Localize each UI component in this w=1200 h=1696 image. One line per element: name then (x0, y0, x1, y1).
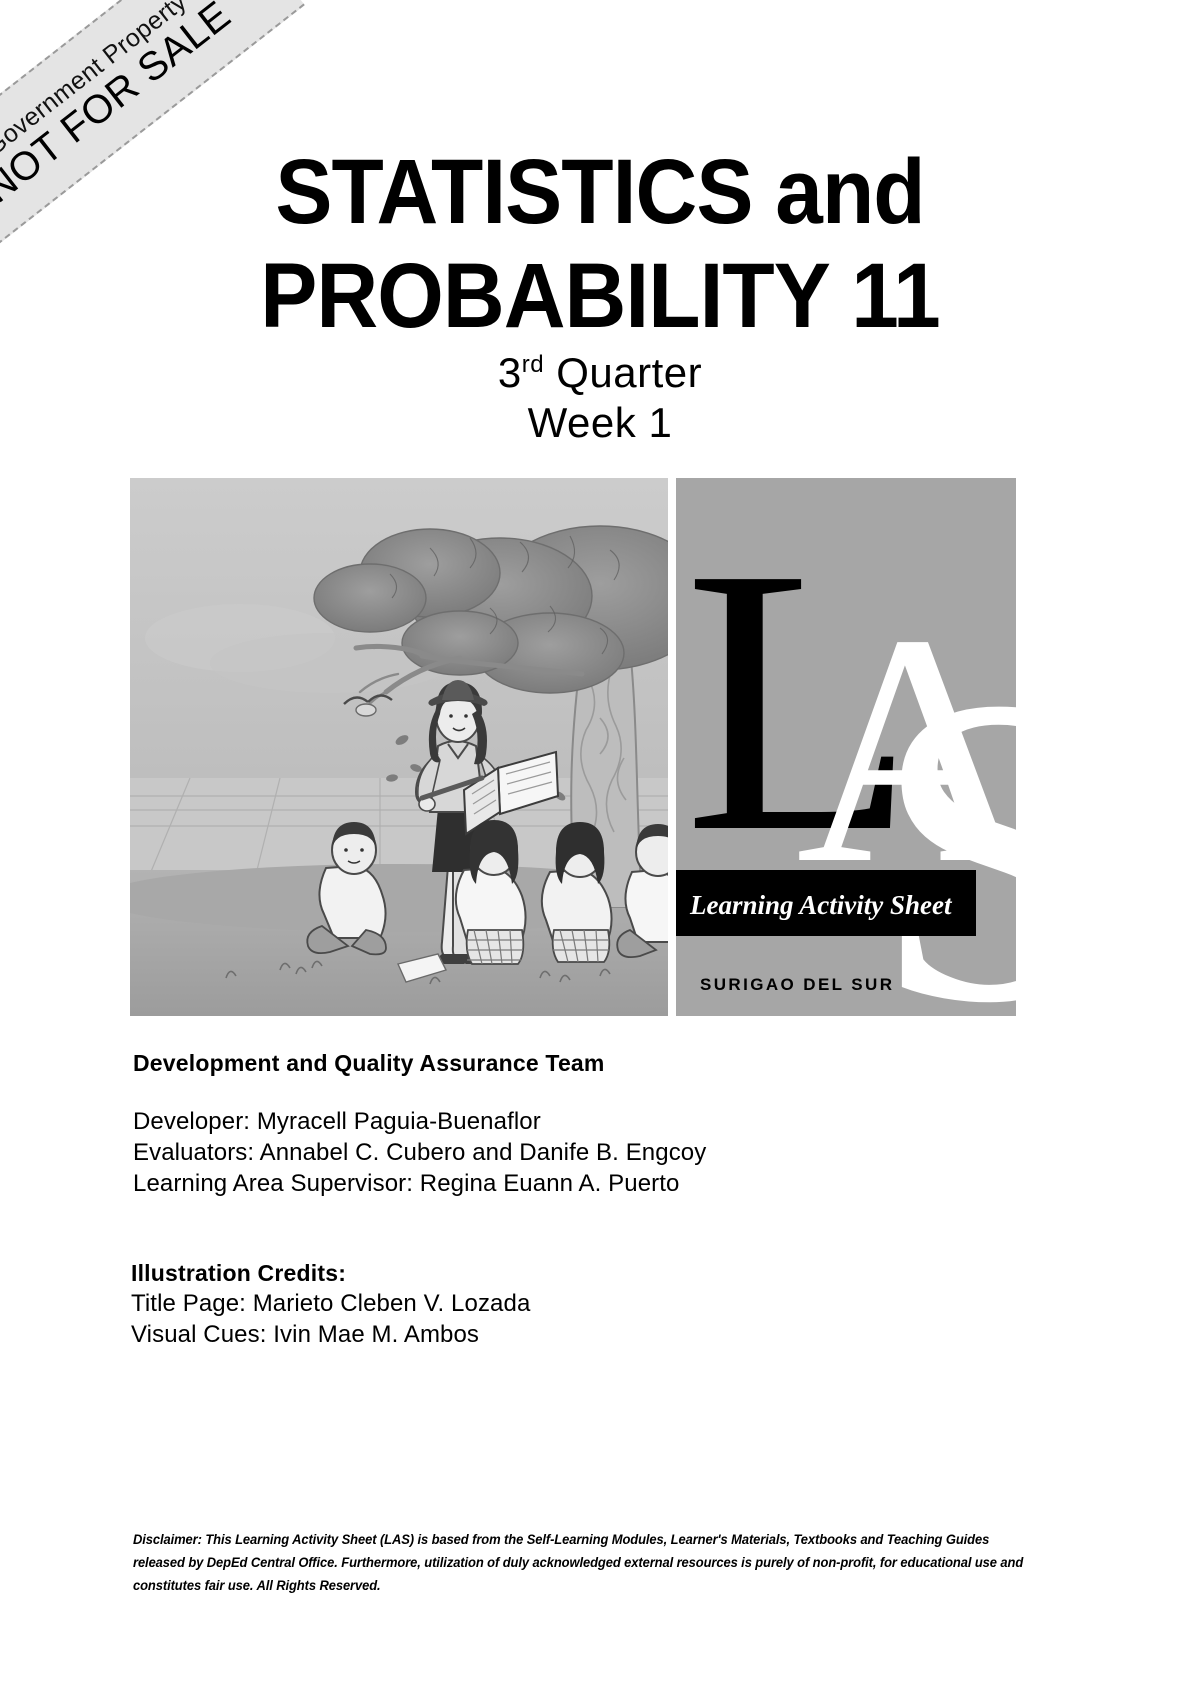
credit-line-developer: Developer: Myracell Paguia-Buenaflor (133, 1106, 1073, 1137)
quarter-number: 3 (498, 349, 522, 396)
credit-line-evaluators: Evaluators: Annabel C. Cubero and Danife… (133, 1137, 1073, 1168)
las-region-label: SURIGAO DEL SUR (700, 975, 894, 994)
disclaimer-text: : This Learning Activity Sheet (LAS) is … (133, 1532, 1023, 1593)
illustration-credits-block: Illustration Credits: Title Page: Mariet… (131, 1258, 1071, 1350)
illustration-svg (130, 478, 668, 1016)
ribbon-band: Government Property NOT FOR SALE (0, 0, 305, 270)
credit-line-supervisor: Learning Area Supervisor: Regina Euann A… (133, 1168, 1073, 1199)
team-heading: Development and Quality Assurance Team (133, 1048, 1073, 1078)
illustration-credit-visual-cues: Visual Cues: Ivin Mae M. Ambos (131, 1319, 1071, 1350)
illustration-credits-heading: Illustration Credits: (131, 1258, 1071, 1288)
disclaimer-label: Disclaimer (133, 1532, 198, 1547)
las-letter-s: S (872, 607, 1016, 1016)
disclaimer-note: Disclaimer: This Learning Activity Sheet… (133, 1528, 1035, 1597)
las-logo-svg: L A S Learning Activity Sheet SURIGAO DE… (676, 478, 1016, 1016)
cover-illustration (130, 478, 668, 1016)
cover-artwork-row: L A S Learning Activity Sheet SURIGAO DE… (130, 478, 1016, 1016)
quarter-ordinal: rd (522, 351, 544, 378)
week-label: Week 1 (0, 398, 1200, 448)
government-property-ribbon: Government Property NOT FOR SALE (0, 0, 320, 290)
development-team-block: Development and Quality Assurance Team D… (133, 1048, 1073, 1199)
las-banner-text: Learning Activity Sheet (689, 890, 953, 920)
quarter-label: 3rd Quarter (0, 348, 1200, 398)
las-logo-panel: L A S Learning Activity Sheet SURIGAO DE… (676, 478, 1016, 1016)
quarter-word: Quarter (544, 349, 702, 396)
illustration-credit-title-page: Title Page: Marieto Cleben V. Lozada (131, 1288, 1071, 1319)
